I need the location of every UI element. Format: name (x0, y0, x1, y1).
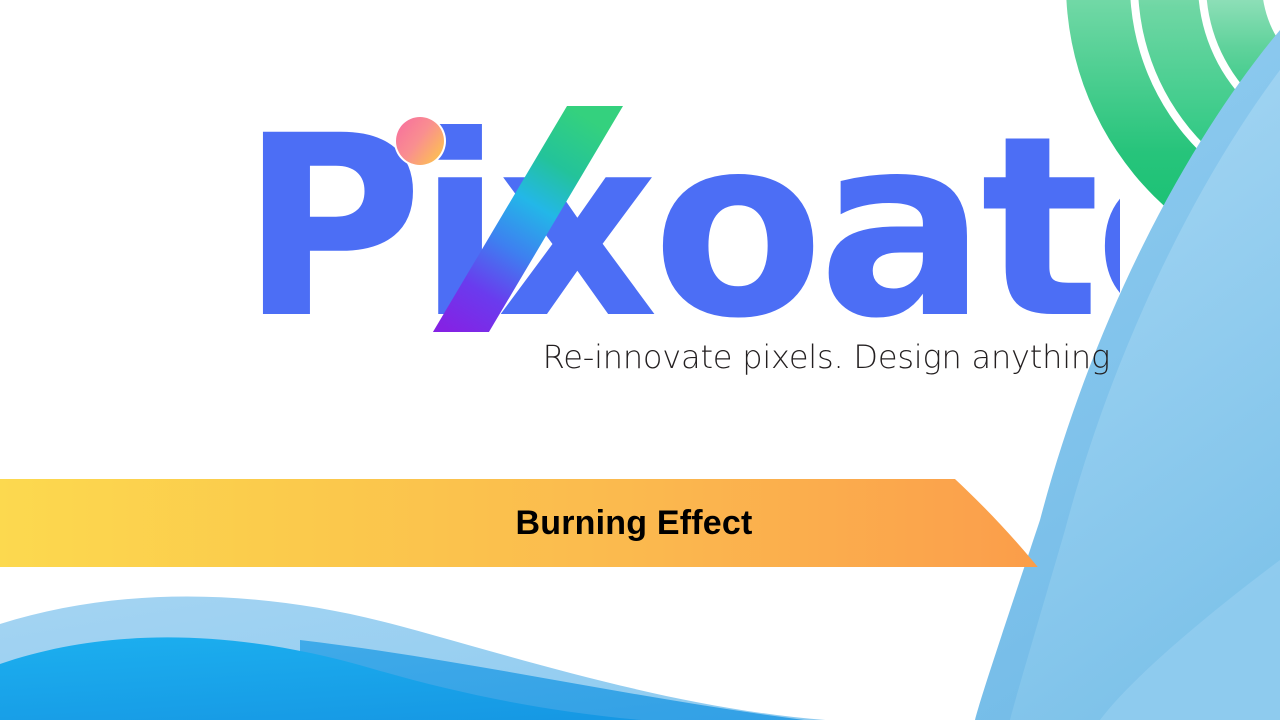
right-arc-overlay (1100, 560, 1280, 720)
banner-title: Burning Effect (0, 479, 1280, 567)
pixoate-wordmark: Pixoate (240, 92, 1120, 332)
wave-mid (300, 640, 1280, 720)
wave-front (0, 637, 1280, 720)
wave-group (0, 596, 1280, 720)
wordmark-text: Pixoate (240, 92, 1120, 332)
i-dot-icon (396, 117, 444, 165)
slide-canvas: Pixoate Re-innovate pixels. Design anyth… (0, 0, 1280, 720)
burning-effect-banner: Burning Effect (0, 479, 1280, 567)
wave-back (0, 596, 1280, 720)
brand-logo-block: Pixoate Re-innovate pixels. Design anyth… (0, 0, 1280, 470)
brand-tagline: Re-innovate pixels. Design anything (0, 338, 1110, 376)
